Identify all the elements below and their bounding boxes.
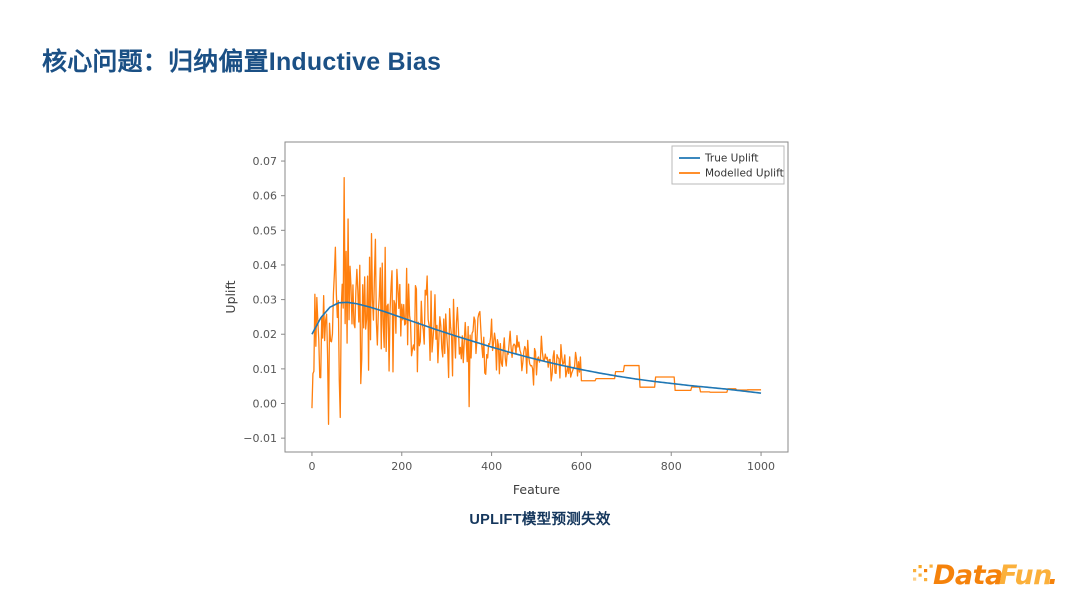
x-tick-label: 0 [308, 460, 315, 473]
y-tick-label: −0.01 [243, 432, 277, 445]
x-tick-label: 400 [481, 460, 502, 473]
logo-text-dot: . [1048, 560, 1058, 591]
x-tick-label: 200 [391, 460, 412, 473]
x-tick-label: 600 [571, 460, 592, 473]
x-axis-label: Feature [513, 482, 561, 497]
y-tick-label: 0.04 [253, 259, 278, 272]
y-tick-label: 0.01 [253, 363, 278, 376]
logo-text-fun: Fun [999, 560, 1052, 591]
slide-canvas: 核心问题：归纳偏置Inductive Bias −0.010.000.010.0… [0, 0, 1080, 608]
y-tick-label: 0.03 [253, 294, 278, 307]
logo-dot-pattern [913, 565, 933, 582]
x-tick-label: 1000 [747, 460, 775, 473]
uplift-chart-svg: −0.010.000.010.020.030.040.050.060.07 02… [205, 130, 815, 500]
x-tick-label: 800 [661, 460, 682, 473]
logo-text-data: Data [933, 560, 1003, 591]
y-tick-label: 0.02 [253, 328, 278, 341]
chart-legend[interactable]: True UpliftModelled Uplift [672, 146, 784, 184]
page-title: 核心问题：归纳偏置Inductive Bias [42, 42, 441, 78]
figure-caption: UPLIFT模型预测失效 [0, 508, 1080, 529]
datafun-logo: Data Fun . [911, 556, 1066, 594]
y-axis-label: Uplift [223, 280, 238, 313]
y-tick-label: 0.05 [253, 224, 278, 237]
y-tick-label: 0.07 [253, 155, 278, 168]
y-tick-label: 0.06 [253, 190, 278, 203]
chart-figure: −0.010.000.010.020.030.040.050.060.07 02… [205, 130, 815, 500]
legend-label-modelled-uplift: Modelled Uplift [705, 168, 784, 180]
y-tick-label: 0.00 [253, 398, 278, 411]
figure-background [205, 130, 815, 500]
legend-label-true-uplift: True Uplift [704, 153, 758, 165]
